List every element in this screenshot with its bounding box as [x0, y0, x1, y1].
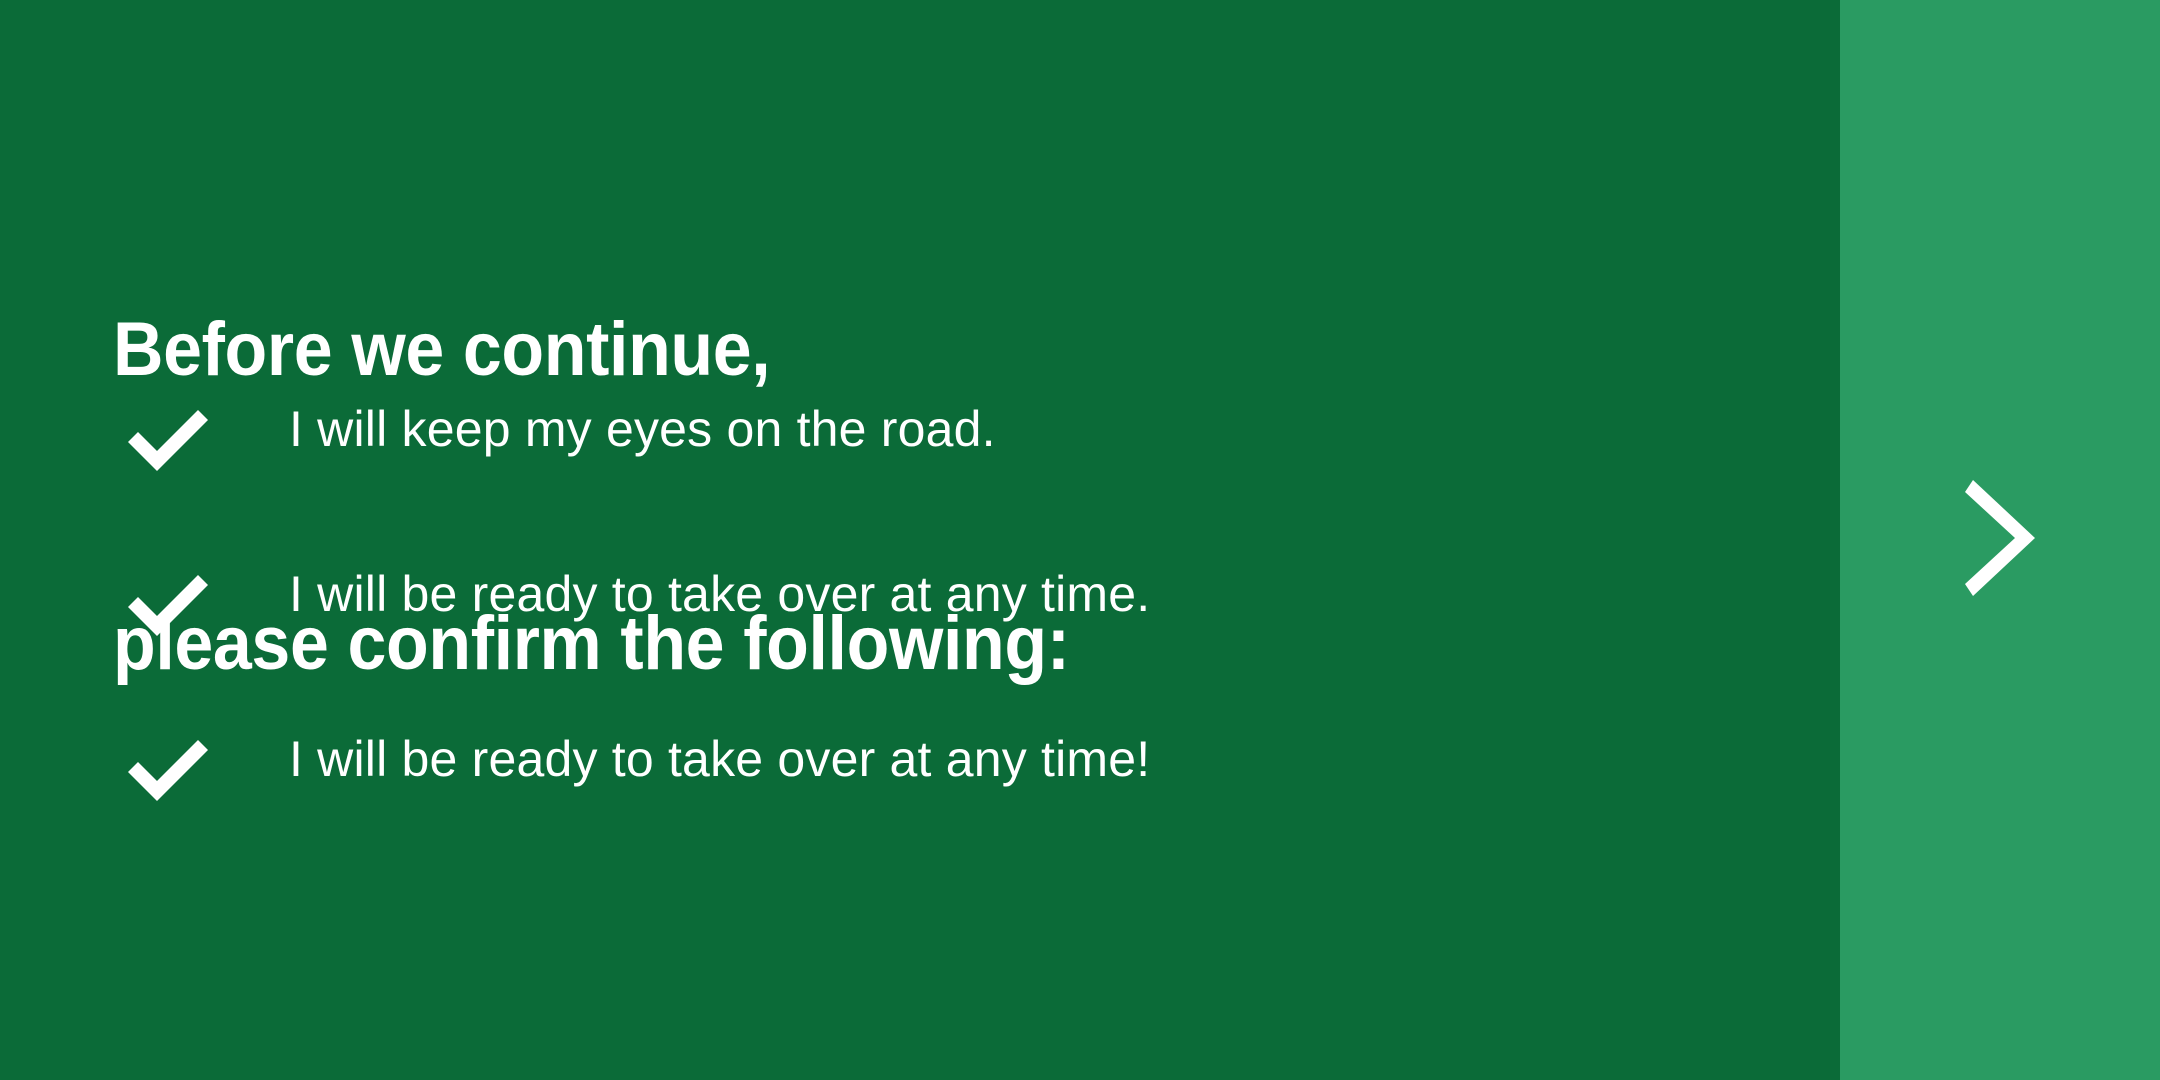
list-item-label: I will be ready to take over at any time… [289, 562, 1150, 626]
main-panel: Before we continue, please confirm the f… [0, 0, 1840, 1080]
check-icon [124, 569, 212, 641]
list-item[interactable]: I will keep my eyes on the road. [0, 384, 1840, 549]
check-icon [124, 404, 212, 476]
chevron-right-icon [1965, 480, 2035, 596]
check-icon [124, 734, 212, 806]
confirmation-screen: Before we continue, please confirm the f… [0, 0, 2160, 1080]
list-item-label: I will keep my eyes on the road. [289, 397, 996, 461]
list-item-label: I will be ready to take over at any time… [289, 727, 1150, 791]
list-item[interactable]: I will be ready to take over at any time… [0, 549, 1840, 714]
confirmation-checklist: I will keep my eyes on the road. I will … [0, 384, 1840, 879]
next-button[interactable] [1840, 0, 2160, 1080]
list-item[interactable]: I will be ready to take over at any time… [0, 714, 1840, 879]
